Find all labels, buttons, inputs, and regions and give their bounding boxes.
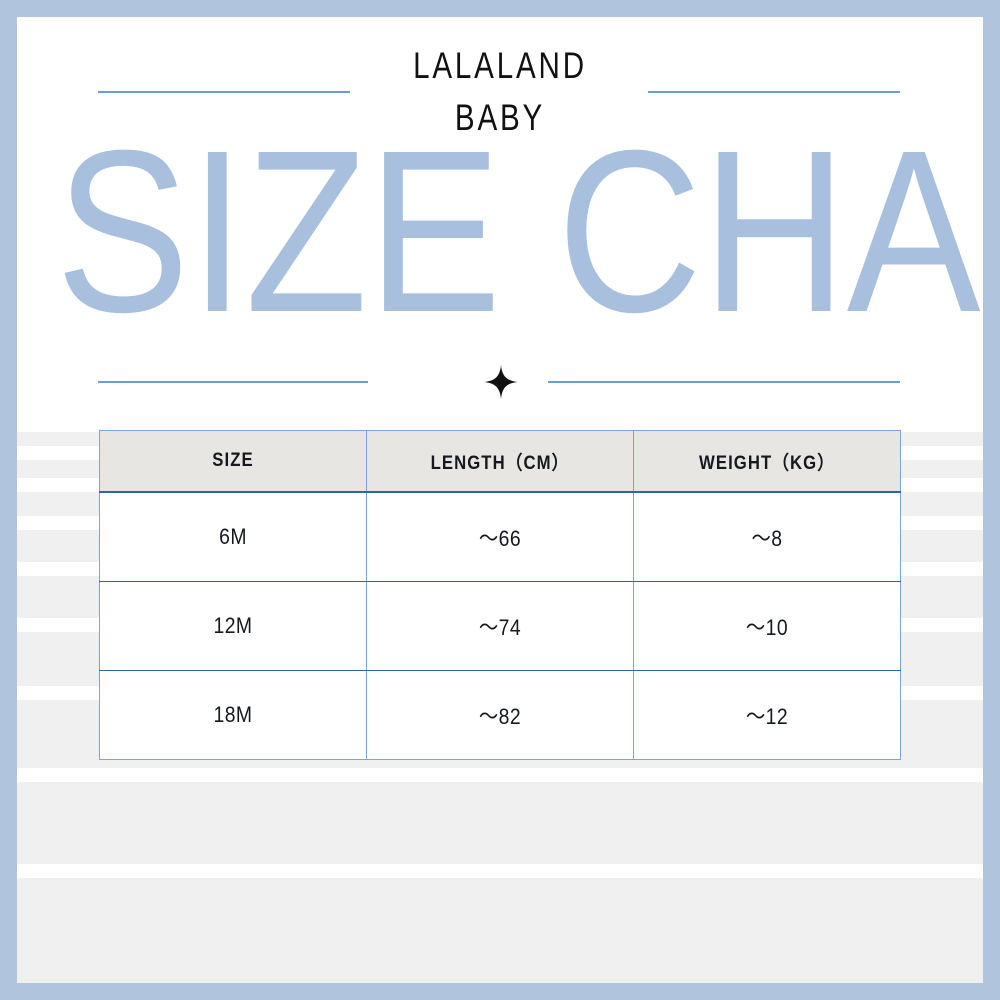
cell-length-value: 〜82 xyxy=(384,699,616,731)
cell-weight-value: 〜8 xyxy=(651,521,883,553)
size-chart-table: SIZE LENGTH（CM） WEIGHT（KG） 6M 〜66 〜8 12M… xyxy=(99,430,901,760)
cell-weight: 〜8 xyxy=(634,492,901,582)
brand-name: LALALAND xyxy=(114,45,887,87)
column-header-weight: WEIGHT（KG） xyxy=(634,431,901,493)
table-row: 6M 〜66 〜8 xyxy=(100,492,901,582)
cell-length-value: 〜74 xyxy=(384,610,616,642)
divider xyxy=(17,354,983,410)
cell-weight: 〜12 xyxy=(634,671,901,760)
divider-rule-left xyxy=(98,381,368,383)
cell-weight: 〜10 xyxy=(634,582,901,671)
cell-length: 〜66 xyxy=(367,492,634,582)
cell-size-value: 18M xyxy=(117,702,349,728)
background-stripe xyxy=(17,878,983,983)
background-stripe xyxy=(17,782,983,864)
cell-size: 18M xyxy=(100,671,367,760)
cell-weight-value: 〜12 xyxy=(651,699,883,731)
table-row: 12M 〜74 〜10 xyxy=(100,582,901,671)
page-title: SIZE CHART xyxy=(56,117,945,348)
cell-length-value: 〜66 xyxy=(384,521,616,553)
table-body: 6M 〜66 〜8 12M 〜74 〜10 18M 〜82 〜12 xyxy=(100,492,901,760)
poster-canvas: LALALAND BABY SIZE CHART SIZE LENGTH（CM）… xyxy=(17,17,983,983)
cell-weight-value: 〜10 xyxy=(651,610,883,642)
column-header-size: SIZE xyxy=(100,431,367,493)
cell-size: 6M xyxy=(100,492,367,582)
column-header-size-label: SIZE xyxy=(117,450,349,472)
cell-size-value: 6M xyxy=(117,524,349,550)
header-rule-left xyxy=(98,91,350,93)
table-header-row: SIZE LENGTH（CM） WEIGHT（KG） xyxy=(100,431,901,493)
table-row: 18M 〜82 〜12 xyxy=(100,671,901,760)
column-header-length-label: LENGTH（CM） xyxy=(384,448,616,475)
cell-size: 12M xyxy=(100,582,367,671)
cell-length: 〜82 xyxy=(367,671,634,760)
cell-size-value: 12M xyxy=(117,613,349,639)
poster-frame: LALALAND BABY SIZE CHART SIZE LENGTH（CM）… xyxy=(0,0,1000,1000)
column-header-weight-label: WEIGHT（KG） xyxy=(651,448,883,475)
divider-rule-right xyxy=(548,381,900,383)
table-header: SIZE LENGTH（CM） WEIGHT（KG） xyxy=(100,431,901,493)
sparkle-star-icon xyxy=(484,365,518,399)
column-header-length: LENGTH（CM） xyxy=(367,431,634,493)
cell-length: 〜74 xyxy=(367,582,634,671)
header-rule-right xyxy=(648,91,900,93)
